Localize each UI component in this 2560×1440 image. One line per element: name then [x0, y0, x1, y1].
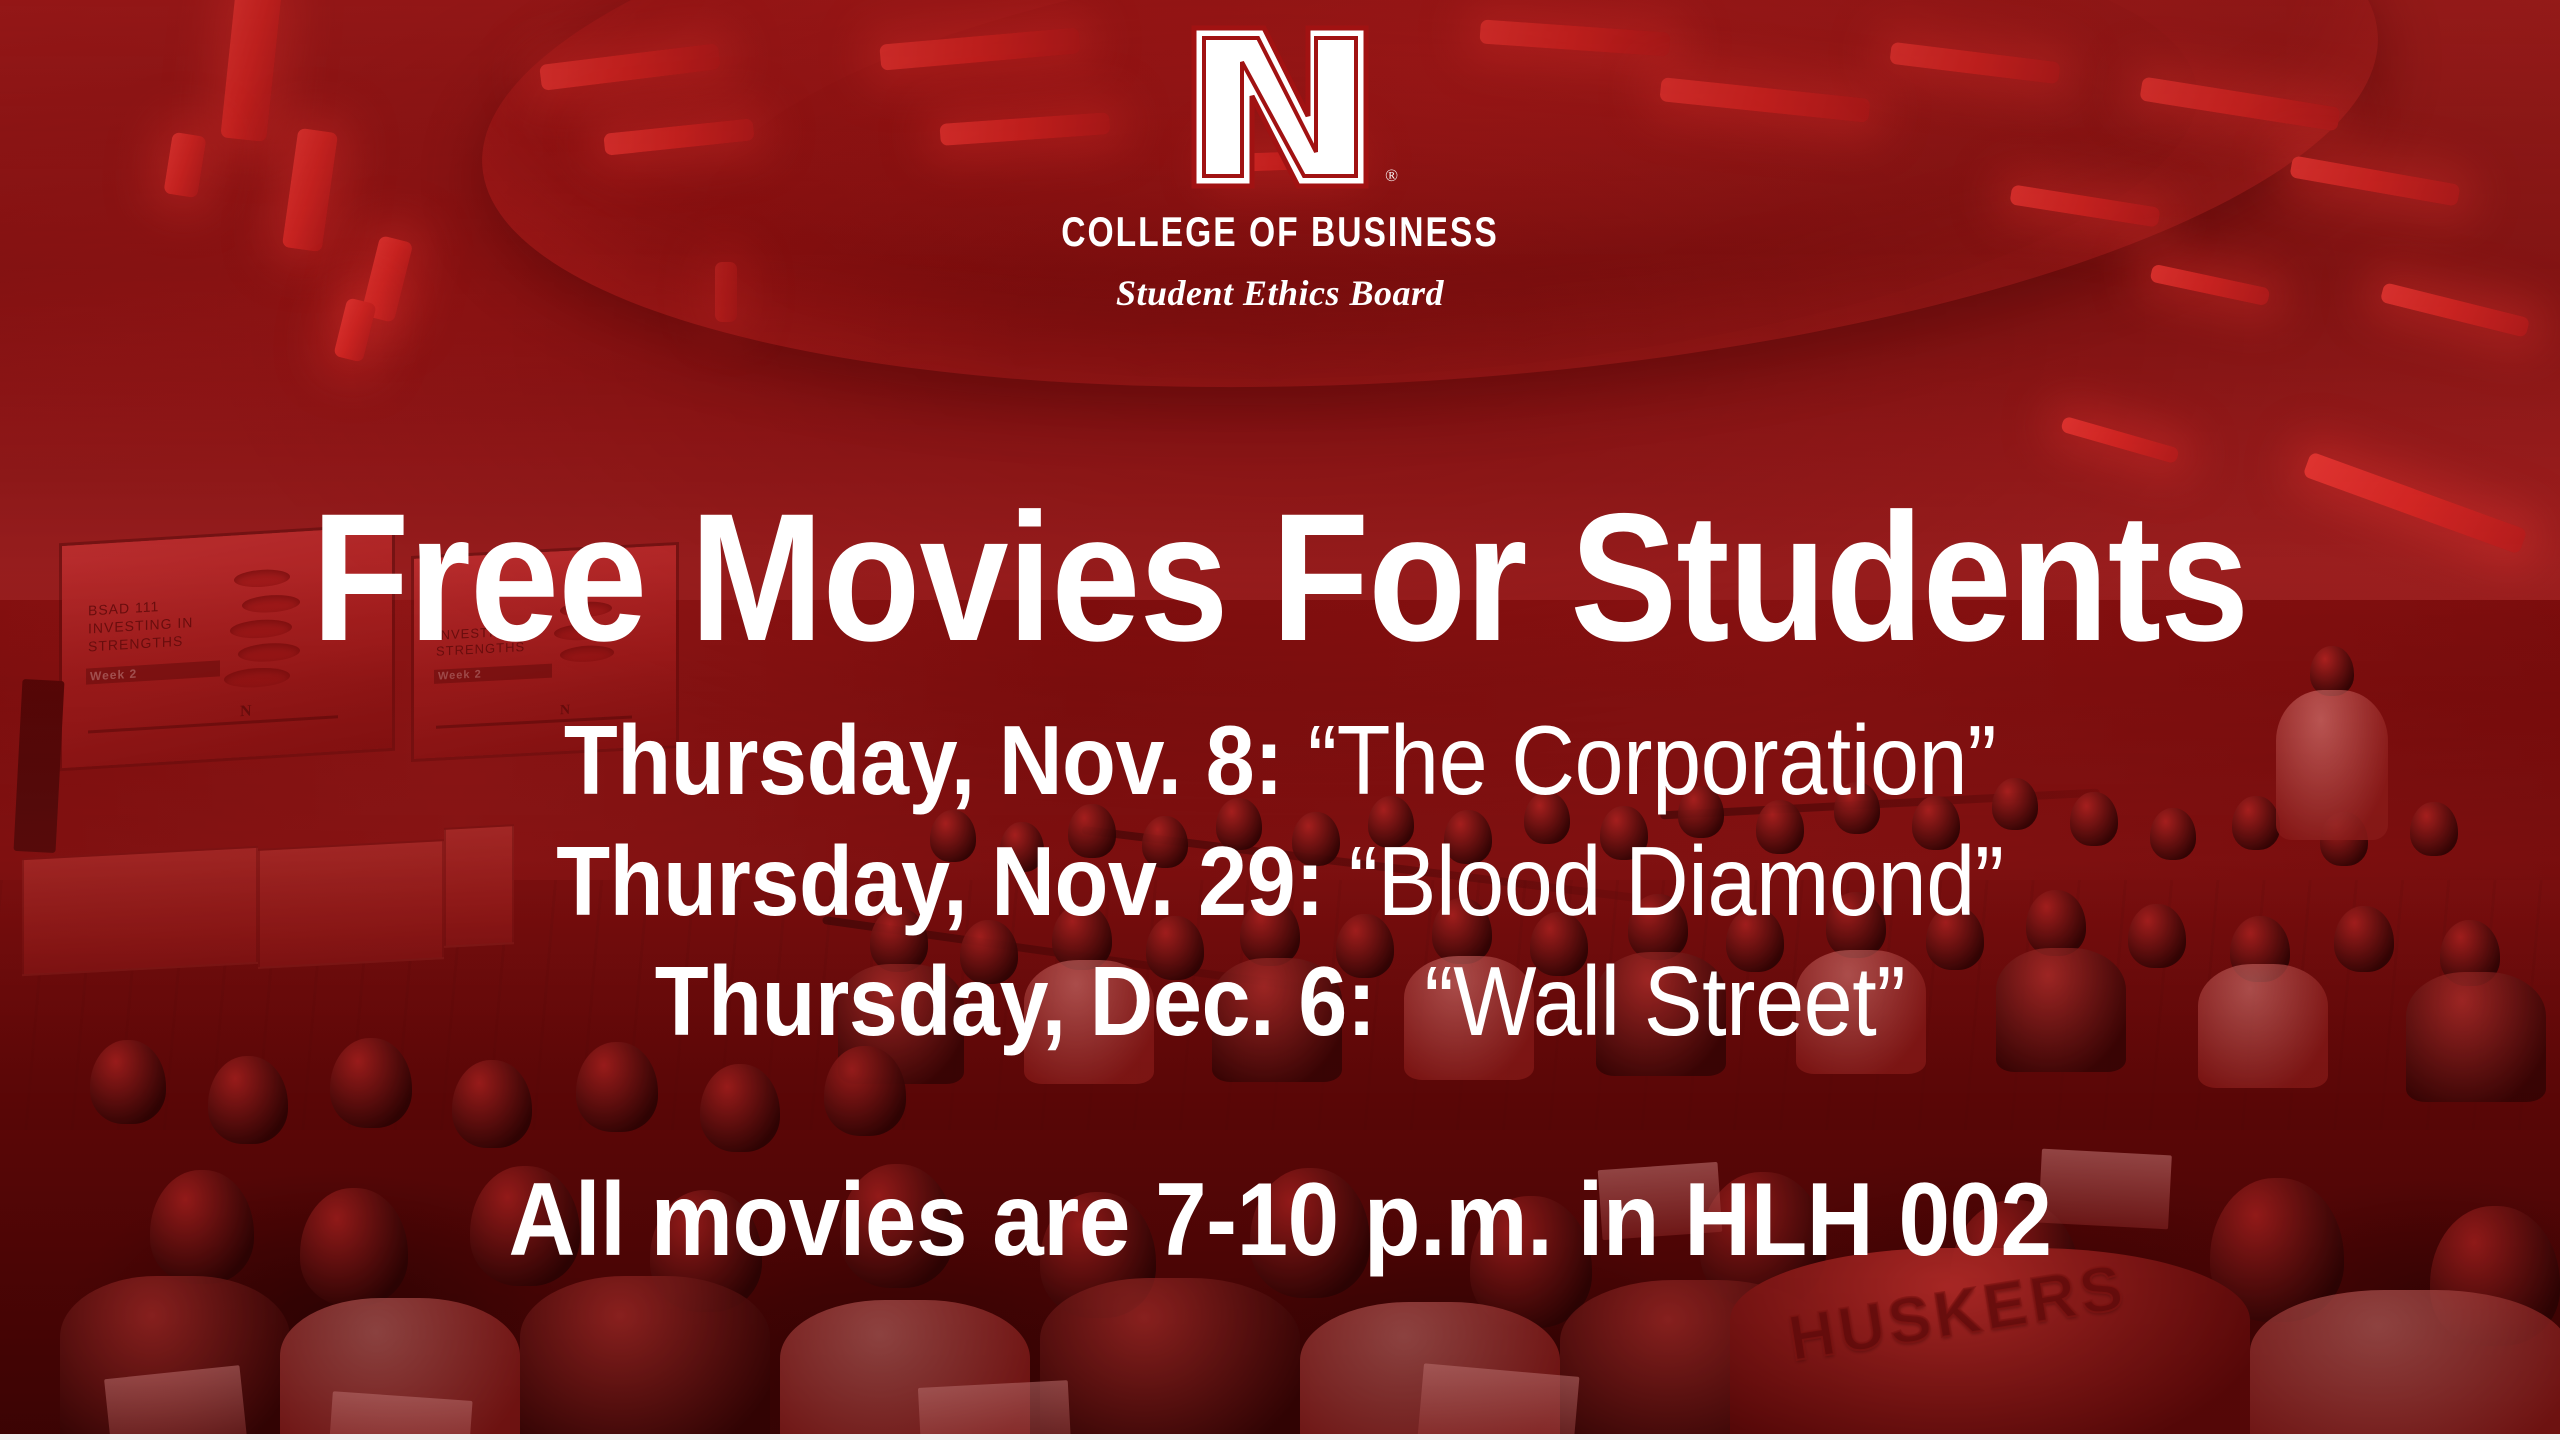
list-item: Thursday, Nov. 29: “Blood Diamond”	[128, 821, 2432, 942]
list-item: Thursday, Nov. 8: “The Corporation”	[128, 700, 2432, 821]
bottom-edge-strip	[0, 1434, 2560, 1440]
movie-date: Thursday, Nov. 29:	[556, 826, 1324, 936]
brand-lockup: ® COLLEGE OF BUSINESS Student Ethics Boa…	[0, 22, 2560, 314]
page-title: Free Movies For Students	[154, 486, 2407, 668]
event-details: All movies are 7-10 p.m. in HLH 002	[141, 1168, 2419, 1272]
college-name: COLLEGE OF BUSINESS	[256, 208, 2304, 256]
list-item: Thursday, Dec. 6: “Wall Street”	[128, 941, 2432, 1062]
movie-date: Thursday, Dec. 6:	[655, 946, 1376, 1056]
group-name: Student Ethics Board	[0, 272, 2560, 314]
registered-trademark-icon: ®	[1385, 167, 1398, 184]
movie-title: “The Corporation”	[1308, 705, 1996, 815]
movie-title: “Wall Street”	[1400, 946, 1905, 1056]
poster-canvas: BSAD 111 INVESTING IN STRENGTHS Week 2 N…	[0, 0, 2560, 1440]
movie-schedule-list: Thursday, Nov. 8: “The Corporation” Thur…	[0, 700, 2560, 1062]
movie-title: “Blood Diamond”	[1349, 826, 2004, 936]
nebraska-n-logo-icon: ®	[1180, 22, 1380, 192]
movie-date: Thursday, Nov. 8:	[564, 705, 1283, 815]
